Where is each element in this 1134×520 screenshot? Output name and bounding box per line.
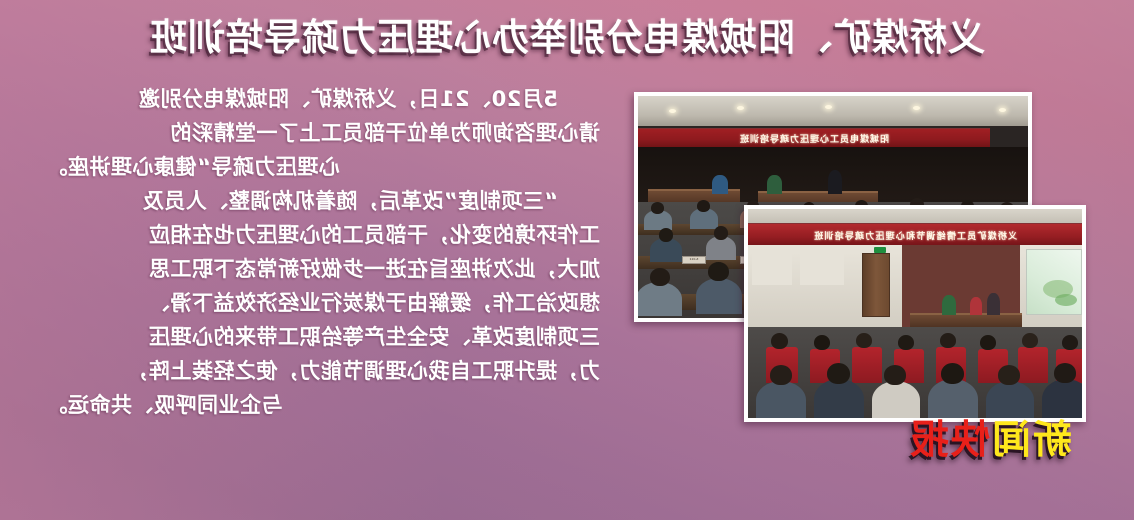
- attendee: [872, 381, 920, 418]
- ceiling-light: [999, 108, 1006, 112]
- article-line: “三项制度”改革后，随着机构调整、人员及: [46, 184, 600, 218]
- article-line: 请心理咨询师为单位干部员工上了一堂精彩的: [46, 116, 600, 150]
- exit-sign: [874, 247, 886, 253]
- attendee: [696, 278, 742, 314]
- article-line: 5月20、21日，义桥煤矿、阳城煤电分别邀: [46, 82, 600, 116]
- article-line: 加大，此次讲座旨在进一步做好新常态下职工思: [46, 252, 600, 286]
- attendee-head: [998, 365, 1020, 385]
- article-line: 心理压力疏导“健康心理讲座。: [46, 150, 600, 184]
- watermark-part-yellow: 新闻: [990, 418, 1072, 463]
- article-line: 三项制度改革、安全生产等给职工带来的心理压: [46, 320, 600, 354]
- attendee-head: [980, 335, 996, 350]
- wall-panel: [752, 253, 792, 285]
- news-poster: 义桥煤矿、阳城煤电分别举办心理压力疏导培训班 阳城煤电员工心理压力疏导培训班: [0, 0, 1134, 520]
- desk-plate: 6-012: [682, 256, 706, 264]
- attendee-head: [771, 333, 788, 349]
- article-line: 工作环境的变化，干部员工的心理压力也在相应: [46, 218, 600, 252]
- attendee: [928, 379, 978, 418]
- news-watermark: 新闻快报: [908, 418, 1072, 464]
- stage-banner-text: 义桥煤矿员工情绪调节和心理压力疏导培训班: [813, 229, 1017, 242]
- poster-title-bar: 义桥煤矿、阳城煤电分别举办心理压力疏导培训班: [0, 13, 1134, 63]
- presenter: [942, 295, 956, 315]
- attendee-head: [650, 268, 670, 286]
- audience: [748, 327, 1082, 418]
- attendee-head: [1062, 335, 1078, 350]
- attendee-head: [697, 200, 710, 212]
- attendee-head: [940, 333, 956, 348]
- stage-banner-text: 阳城煤电员工心理压力疏导培训班: [739, 132, 889, 145]
- ceiling-light: [913, 106, 920, 110]
- presenter: [828, 170, 842, 194]
- wall-panel: [800, 253, 844, 285]
- attendee-head: [827, 363, 850, 384]
- ceiling-light: [669, 109, 676, 113]
- ceiling-light: [737, 106, 744, 110]
- door: [862, 253, 890, 317]
- attendee-head: [770, 365, 792, 385]
- article-body: 5月20、21日，义桥煤矿、阳城煤电分别邀 请心理咨询师为单位干部员工上了一堂精…: [46, 82, 600, 422]
- attendee-head: [814, 335, 830, 350]
- projection-screen: [1026, 249, 1082, 315]
- watermark-part-red: 快报: [908, 418, 990, 463]
- presenter: [987, 293, 1000, 315]
- attendee: [638, 282, 682, 316]
- attendee-head: [1054, 363, 1076, 383]
- attendee: [814, 379, 864, 418]
- attendee-head: [898, 335, 914, 350]
- attendee-head: [1022, 333, 1038, 348]
- attendee-head: [714, 226, 728, 240]
- seat: [1018, 347, 1048, 383]
- photo-yiqiao-training-hall: 义桥煤矿员工情绪调节和心理压力疏导培训班: [744, 205, 1086, 422]
- article-line: 与企业同呼吸、共命运。: [46, 388, 600, 422]
- presenter: [970, 297, 982, 315]
- attendee-head: [708, 262, 729, 281]
- attendee-head: [659, 228, 673, 242]
- attendee: [756, 381, 806, 418]
- screen-graphic: [1055, 294, 1077, 306]
- attendee-head: [651, 202, 664, 214]
- ceiling-light: [825, 105, 832, 109]
- attendee-head: [941, 363, 964, 384]
- presenter: [767, 175, 782, 194]
- article-line: 想政治工作，缓解由于煤炭行业经济效益下滑、: [46, 286, 600, 320]
- stage-banner: 义桥煤矿员工情绪调节和心理压力疏导培训班: [748, 223, 1082, 246]
- article-line: 力，提升职工自我心理调节能力，使之轻装上阵，: [46, 354, 600, 388]
- attendee-head: [856, 333, 872, 348]
- attendee: [1042, 379, 1082, 418]
- photo-scene: 义桥煤矿员工情绪调节和心理压力疏导培训班: [748, 209, 1082, 418]
- attendee-head: [884, 365, 906, 385]
- attendee: [986, 381, 1034, 418]
- seat: [852, 347, 882, 383]
- stage-banner: 阳城煤电员工心理压力疏导培训班: [638, 128, 990, 148]
- presenter: [712, 175, 728, 194]
- page-title: 义桥煤矿、阳城煤电分别举办心理压力疏导培训班: [149, 13, 985, 63]
